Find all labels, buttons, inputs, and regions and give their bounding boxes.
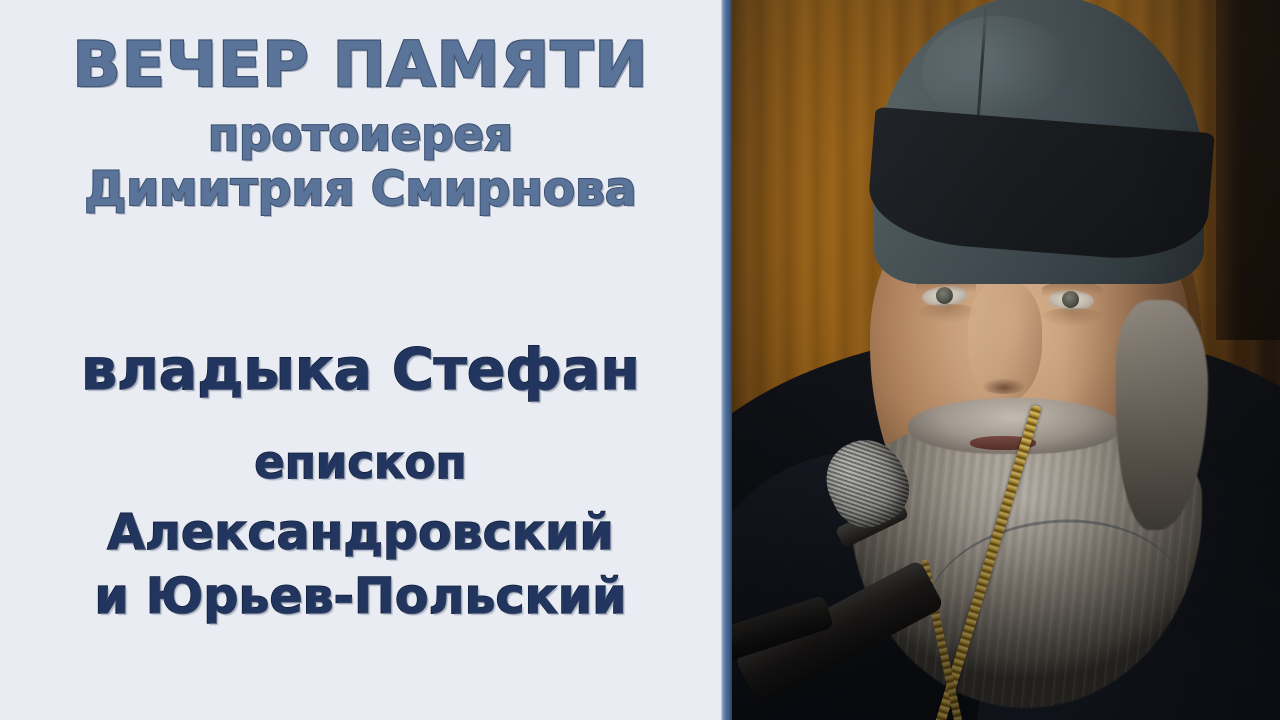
event-title-subline-2: Димитрия Смирнова — [0, 166, 721, 213]
photo-vignette — [732, 0, 1280, 720]
poster-canvas: ВЕЧЕР ПАМЯТИ протоиерея Димитрия Смирнов… — [0, 0, 1280, 720]
speaker-rank-line-1: епископ — [0, 440, 721, 485]
panel-divider — [721, 0, 732, 720]
text-panel: ВЕЧЕР ПАМЯТИ протоиерея Димитрия Смирнов… — [0, 0, 721, 720]
speaker-name: владыка Стефан — [0, 342, 721, 399]
speaker-rank-line-3: и Юрьев-Польский — [0, 572, 721, 621]
event-title-subline-1: протоиерея — [0, 112, 721, 157]
event-title: ВЕЧЕР ПАМЯТИ — [0, 34, 721, 96]
speaker-photo — [732, 0, 1280, 720]
speaker-rank-line-2: Александровский — [0, 508, 721, 557]
